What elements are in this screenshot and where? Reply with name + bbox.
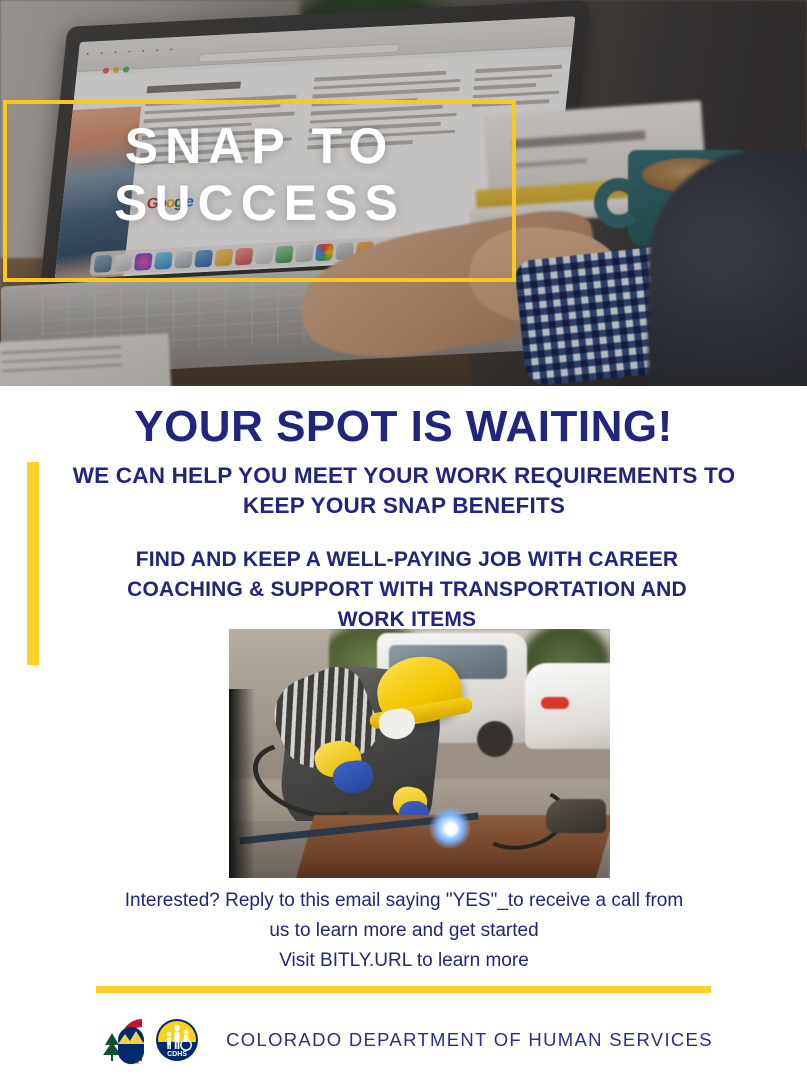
svg-text:™: ™ [135, 1061, 139, 1066]
agency-name: COLORADO DEPARTMENT OF HUMAN SERVICES [226, 1029, 713, 1051]
subheadline-line1: WE CAN HELP YOU MEET YOUR WORK REQUIREME… [48, 461, 760, 491]
hero-title-line1: SNAP TO [3, 118, 516, 175]
page-headline: YOUR SPOT IS WAITING! [0, 402, 807, 452]
cta-line2: us to learn more and get started [46, 916, 762, 946]
benefits-line1: FIND AND KEEP A WELL-PAYING JOB WITH CAR… [62, 545, 752, 575]
left-accent-bar [27, 462, 39, 665]
hero-title: SNAP TO SUCCESS [3, 118, 516, 232]
white-car [525, 663, 610, 749]
benefits-text: FIND AND KEEP A WELL-PAYING JOB WITH CAR… [62, 545, 752, 635]
colorado-cdhs-logo-icon: ™ CDHS [95, 1013, 203, 1067]
footer-divider [96, 986, 711, 993]
cta-line3: Visit BITLY.URL to learn more [46, 946, 762, 976]
call-to-action: Interested? Reply to this email saying "… [46, 886, 762, 976]
subheadline: WE CAN HELP YOU MEET YOUR WORK REQUIREME… [48, 461, 760, 521]
cta-line1: Interested? Reply to this email saying "… [46, 886, 762, 916]
agency-logo-lockup: ™ CDHS [94, 1012, 204, 1068]
cdhs-logo-label: CDHS [167, 1051, 187, 1058]
hero-title-line2: SUCCESS [3, 175, 516, 232]
subheadline-line2: KEEP YOUR SNAP BENEFITS [48, 491, 760, 521]
welding-photo [229, 629, 610, 878]
footer: ™ CDHS COLORADO DEPARTMENT OF HUMAN SERV… [0, 1008, 807, 1072]
benefits-line2: COACHING & SUPPORT WITH TRANSPORTATION A… [62, 575, 752, 605]
hero-banner: ▪ ▪ ▪ ▪ ▪ ▪ ▪ [0, 0, 807, 386]
